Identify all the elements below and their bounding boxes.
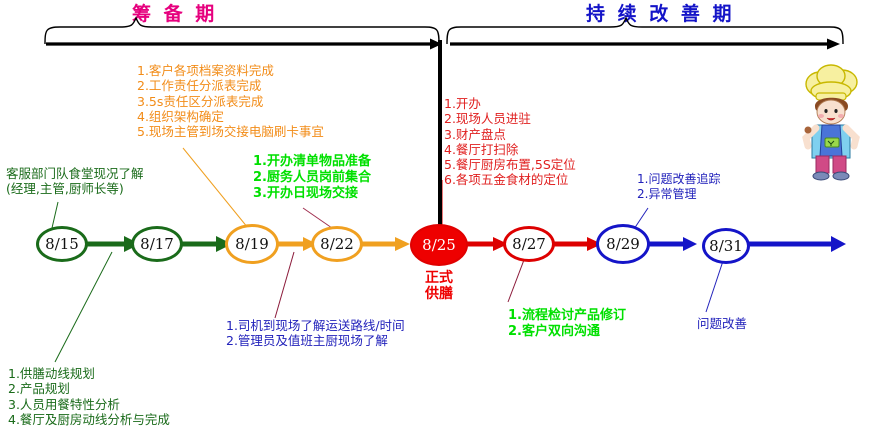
timeline-node-2[interactable]: 8/19	[225, 224, 279, 264]
timeline-node-6[interactable]: 8/29	[596, 224, 650, 264]
node-label: 8/17	[140, 237, 174, 252]
node-label: 8/31	[709, 239, 743, 254]
timeline-node-7[interactable]: 8/31	[702, 228, 750, 264]
timeline-node-3[interactable]: 8/22	[311, 226, 363, 262]
node-label: 8/25	[422, 238, 456, 253]
timeline-node-0[interactable]: 8/15	[36, 226, 88, 262]
timeline-node-5[interactable]: 8/27	[503, 226, 555, 262]
node-label: 8/29	[606, 237, 640, 252]
node-label: 8/19	[235, 237, 269, 252]
timeline-node-4[interactable]: 8/25	[410, 224, 468, 266]
node-label: 8/15	[45, 237, 79, 252]
timeline-diagram: 筹 备 期 持 续 改 善 期	[0, 0, 880, 430]
node-label: 8/27	[512, 237, 546, 252]
node-connectors	[0, 0, 880, 430]
node-label: 8/22	[320, 237, 354, 252]
timeline-node-1[interactable]: 8/17	[131, 226, 183, 262]
